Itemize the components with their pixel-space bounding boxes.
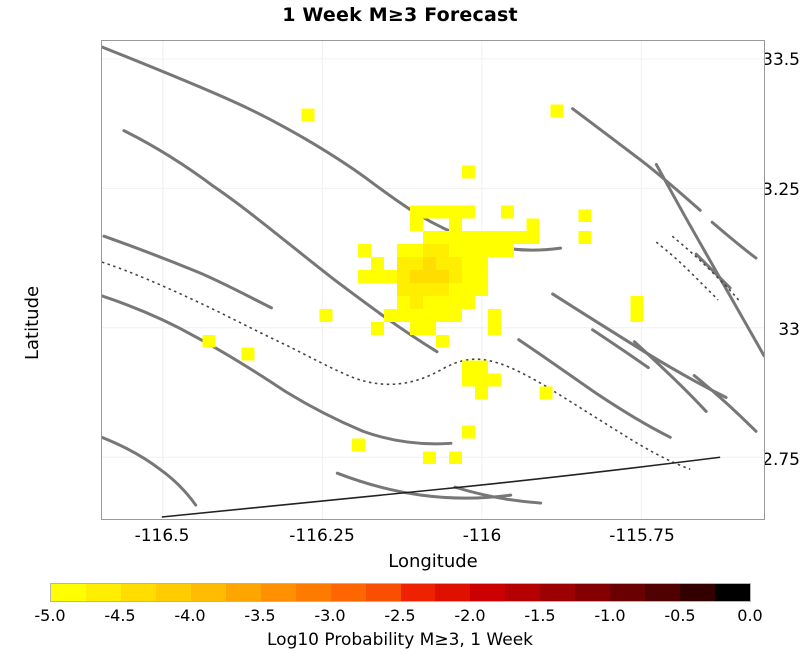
- heatmap-cell: [371, 270, 384, 283]
- heatmap-cell: [449, 205, 462, 218]
- heatmap-cell: [462, 270, 475, 283]
- colorbar-segment-16: [610, 584, 645, 601]
- heatmap-cell: [527, 218, 540, 231]
- colorbar-segment-12: [470, 584, 505, 601]
- colorbar[interactable]: [50, 583, 751, 602]
- heatmap-cell: [423, 322, 436, 335]
- colorbar-label: Log10 Probability M≥3, 1 Week: [0, 630, 800, 650]
- heatmap-cell: [410, 218, 423, 231]
- heatmap-cell: [423, 244, 436, 257]
- y-axis-label: Latitude: [22, 286, 43, 360]
- heatmap-cell: [358, 270, 371, 283]
- heatmap-cell: [242, 348, 255, 361]
- colorbar-segment-18: [680, 584, 715, 601]
- heatmap-cell: [488, 309, 501, 322]
- colorbar-segment-14: [540, 584, 575, 601]
- heatmap-cell: [397, 244, 410, 257]
- heatmap-cell: [475, 283, 488, 296]
- forecast-map-plot[interactable]: [101, 40, 765, 520]
- heatmap-cell: [579, 231, 592, 244]
- heatmap-cell: [501, 231, 514, 244]
- heatmap-cell: [410, 309, 423, 322]
- heatmap-cell: [462, 374, 475, 387]
- colorbar-segment-1: [86, 584, 121, 601]
- heatmap-cell: [462, 257, 475, 270]
- heatmap-cell: [410, 296, 423, 309]
- heatmap-cell: [449, 270, 462, 283]
- colorbar-segment-17: [645, 584, 680, 601]
- heatmap-cell: [462, 244, 475, 257]
- heatmap-cell: [449, 231, 462, 244]
- heatmap-cell: [371, 257, 384, 270]
- heatmap-cell: [630, 296, 643, 309]
- heatmap-cell: [475, 374, 488, 387]
- heatmap-cell: [475, 387, 488, 400]
- x-tick-label: -115.75: [582, 528, 702, 545]
- heatmap-cell: [449, 257, 462, 270]
- colorbar-segment-7: [296, 584, 331, 601]
- heatmap-cell: [488, 244, 501, 257]
- heatmap-cell: [449, 244, 462, 257]
- heatmap-cell: [410, 270, 423, 283]
- heatmap-cell: [475, 257, 488, 270]
- heatmap-cell: [436, 296, 449, 309]
- heatmap-cell: [397, 309, 410, 322]
- heatmap-cell: [449, 218, 462, 231]
- colorbar-segment-10: [401, 584, 436, 601]
- heatmap-cell: [462, 231, 475, 244]
- heatmap-cell: [449, 296, 462, 309]
- heatmap-cell: [501, 244, 514, 257]
- heatmap-cell: [423, 231, 436, 244]
- x-tick-label: -116.25: [262, 528, 382, 545]
- heatmap-cell: [501, 205, 514, 218]
- heatmap-cell: [410, 257, 423, 270]
- heatmap-cell: [436, 205, 449, 218]
- colorbar-segment-5: [226, 584, 261, 601]
- colorbar-segment-11: [435, 584, 470, 601]
- heatmap-cell: [436, 231, 449, 244]
- colorbar-segment-9: [366, 584, 401, 601]
- heatmap-cell: [397, 270, 410, 283]
- heatmap-cell: [462, 165, 475, 178]
- heatmap-cell: [358, 244, 371, 257]
- heatmap-cell: [436, 335, 449, 348]
- heatmap-cell: [423, 296, 436, 309]
- colorbar-segment-19: [715, 584, 750, 601]
- heatmap-cell: [462, 425, 475, 438]
- x-axis-label: Longitude: [101, 551, 765, 572]
- heatmap-cell: [514, 231, 527, 244]
- heatmap-cell: [540, 387, 553, 400]
- heatmap-cell: [436, 257, 449, 270]
- heatmap-cell: [436, 244, 449, 257]
- heatmap-cell: [488, 322, 501, 335]
- heatmap-cell: [423, 283, 436, 296]
- heatmap-cell: [203, 335, 216, 348]
- heatmap-cell: [527, 231, 540, 244]
- heatmap-cell: [475, 361, 488, 374]
- heatmap-cell: [410, 283, 423, 296]
- heatmap-cell: [462, 361, 475, 374]
- heatmap-cell: [423, 205, 436, 218]
- heatmap-cell: [462, 205, 475, 218]
- heatmap-cell: [397, 283, 410, 296]
- colorbar-segment-6: [261, 584, 296, 601]
- heatmap-cell: [384, 270, 397, 283]
- x-tick-label: -116: [422, 528, 542, 545]
- heatmap-cell: [410, 205, 423, 218]
- heatmap-cell: [462, 296, 475, 309]
- colorbar-tick-label: 0.0: [695, 606, 800, 625]
- heatmap-cell: [630, 309, 643, 322]
- heatmap-cell: [449, 283, 462, 296]
- heatmap-cell: [397, 296, 410, 309]
- heatmap-cell: [579, 209, 592, 222]
- heatmap-cell: [301, 109, 314, 122]
- colorbar-segment-13: [505, 584, 540, 601]
- colorbar-segment-4: [191, 584, 226, 601]
- heatmap-cell: [462, 283, 475, 296]
- heatmap-cell: [397, 257, 410, 270]
- colorbar-segment-8: [331, 584, 366, 601]
- heatmap-cell: [488, 231, 501, 244]
- heatmap-cell: [475, 270, 488, 283]
- heatmap-cell: [410, 244, 423, 257]
- heatmap-cell: [475, 244, 488, 257]
- heatmap-cell: [436, 283, 449, 296]
- heatmap-cell: [423, 309, 436, 322]
- heatmap-cell: [319, 309, 332, 322]
- heatmap-cell: [423, 257, 436, 270]
- x-tick-label: -116.5: [102, 528, 222, 545]
- colorbar-segment-0: [51, 584, 86, 601]
- heatmap-cell: [488, 374, 501, 387]
- heatmap-cell: [371, 322, 384, 335]
- heatmap-cell: [436, 270, 449, 283]
- heatmap-cell: [449, 451, 462, 464]
- heatmap-cell: [410, 322, 423, 335]
- heatmap-cell: [475, 231, 488, 244]
- colorbar-segment-2: [121, 584, 156, 601]
- heatmap-cell: [352, 438, 365, 451]
- colorbar-segment-3: [156, 584, 191, 601]
- page-title: 1 Week M≥3 Forecast: [0, 4, 800, 26]
- heatmap-cell: [449, 309, 462, 322]
- probability-heatmap-cells: [102, 41, 764, 519]
- heatmap-cell: [423, 270, 436, 283]
- heatmap-cell: [551, 105, 564, 118]
- colorbar-segment-15: [575, 584, 610, 601]
- heatmap-cell: [423, 451, 436, 464]
- heatmap-cell: [436, 309, 449, 322]
- heatmap-cell: [384, 309, 397, 322]
